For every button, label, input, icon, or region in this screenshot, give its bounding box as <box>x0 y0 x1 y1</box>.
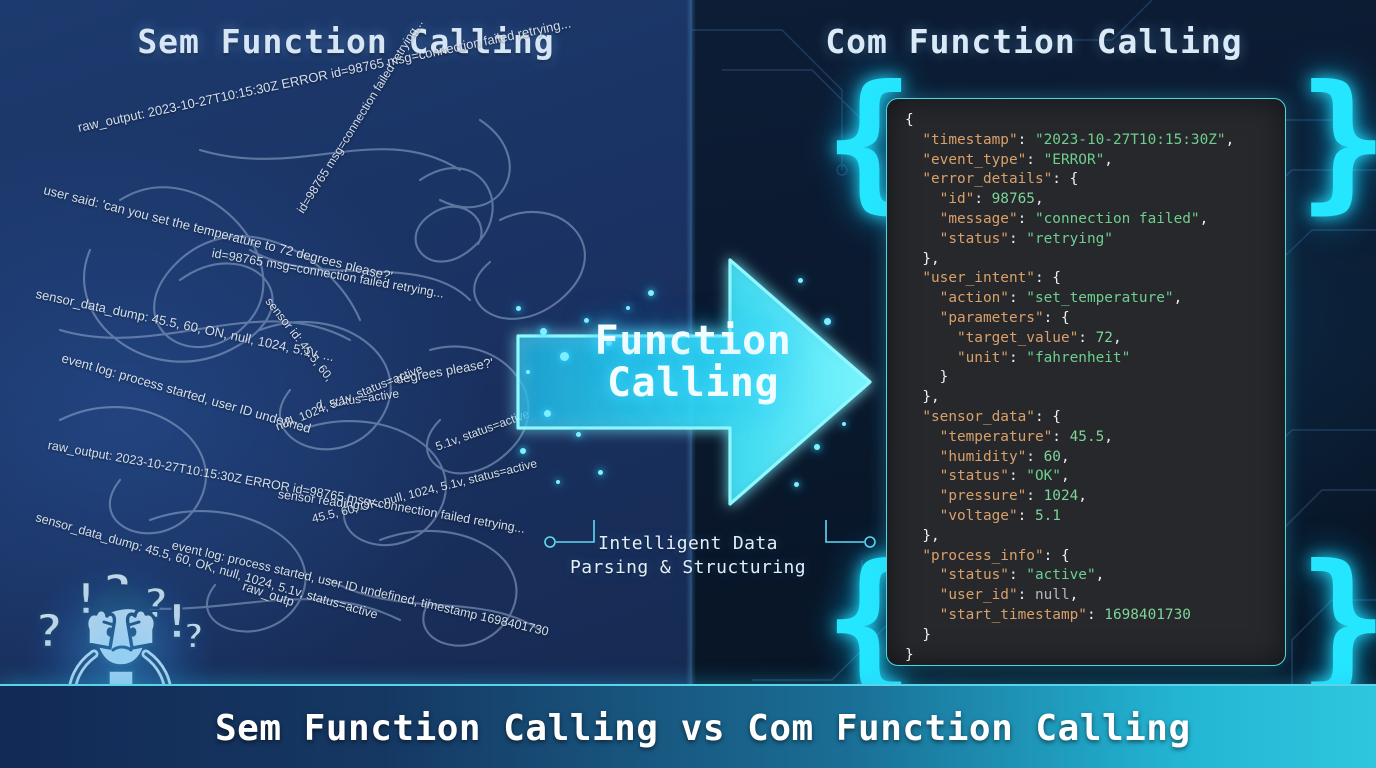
json-token-p <box>905 607 940 623</box>
json-token-p <box>905 488 940 504</box>
json-token-p <box>905 548 922 564</box>
json-token-p <box>905 330 957 346</box>
json-token-p <box>905 429 940 445</box>
json-line: }, <box>905 527 1285 547</box>
json-line: "target_value": 72, <box>905 329 1285 349</box>
json-token-p: } <box>905 627 931 643</box>
json-line: "start_timestamp": 1698401730 <box>905 606 1285 626</box>
json-token-p: : <box>1009 290 1026 306</box>
json-token-p: , <box>1078 488 1087 504</box>
json-token-num: 1024 <box>1044 488 1079 504</box>
function-calling-arrow: Function Calling <box>498 232 888 532</box>
json-token-p: : <box>1018 508 1035 524</box>
json-token-num: 60 <box>1044 449 1061 465</box>
json-token-p <box>905 231 940 247</box>
json-token-num: 5.1 <box>1035 508 1061 524</box>
json-token-p <box>905 310 940 326</box>
json-token-p: }, <box>905 528 940 544</box>
json-token-p: , <box>1104 429 1113 445</box>
json-token-num: 1698401730 <box>1104 607 1191 623</box>
json-token-str: "fahrenheit" <box>1026 350 1130 366</box>
json-token-p: }, <box>905 389 940 405</box>
json-token-p <box>905 152 922 168</box>
json-line: "event_type": "ERROR", <box>905 151 1285 171</box>
json-token-p: : { <box>1044 548 1070 564</box>
json-line: "unit": "fahrenheit" <box>905 349 1285 369</box>
json-line: }, <box>905 388 1285 408</box>
json-line: "timestamp": "2023-10-27T10:15:30Z", <box>905 131 1285 151</box>
json-token-p <box>905 468 940 484</box>
json-token-p <box>905 508 940 524</box>
json-token-p: : <box>1018 132 1035 148</box>
json-token-str: "2023-10-27T10:15:30Z" <box>1035 132 1226 148</box>
json-line: "user_id": null, <box>905 586 1285 606</box>
infographic-canvas: Sem Function Calling Com Function Callin… <box>0 0 1376 768</box>
json-line: "status": "retrying" <box>905 230 1285 250</box>
json-token-p: : <box>1009 567 1026 583</box>
json-token-key: "action" <box>940 290 1009 306</box>
json-token-p: , <box>1104 152 1113 168</box>
json-line: "pressure": 1024, <box>905 487 1285 507</box>
json-token-p: : <box>1009 231 1026 247</box>
json-token-p: : <box>974 191 991 207</box>
json-token-p <box>905 567 940 583</box>
json-token-p <box>905 409 922 425</box>
json-line: "status": "OK", <box>905 467 1285 487</box>
json-token-p <box>905 350 957 366</box>
json-token-key: "sensor_data" <box>922 409 1035 425</box>
json-token-p: , <box>1035 191 1044 207</box>
json-code-block: { "timestamp": "2023-10-27T10:15:30Z", "… <box>905 111 1285 665</box>
json-token-key: "id" <box>940 191 975 207</box>
json-line: "error_details": { <box>905 170 1285 190</box>
caption-line1: Intelligent Data <box>560 532 816 556</box>
json-line: }, <box>905 250 1285 270</box>
json-token-str: "OK" <box>1026 468 1061 484</box>
json-token-p: }, <box>905 251 940 267</box>
json-token-p <box>905 270 922 286</box>
json-token-num: 72 <box>1096 330 1113 346</box>
json-token-p <box>905 191 940 207</box>
json-line: { <box>905 111 1285 131</box>
json-token-p: , <box>1200 211 1209 227</box>
bottom-banner: Sem Function Calling vs Com Function Cal… <box>0 684 1376 768</box>
json-token-p: : { <box>1052 171 1078 187</box>
json-line: "temperature": 45.5, <box>905 428 1285 448</box>
json-token-key: "target_value" <box>957 330 1078 346</box>
arrow-label-line2: Calling <box>558 362 828 404</box>
structured-json-panel[interactable]: { "timestamp": "2023-10-27T10:15:30Z", "… <box>886 98 1286 666</box>
json-token-p <box>905 132 922 148</box>
json-token-p <box>905 449 940 465</box>
json-token-p <box>905 290 940 306</box>
json-token-p: : <box>1018 211 1035 227</box>
json-token-key: "event_type" <box>922 152 1026 168</box>
banner-title: Sem Function Calling vs Com Function Cal… <box>215 686 1191 768</box>
json-token-p: : <box>1026 152 1043 168</box>
json-line: } <box>905 626 1285 646</box>
arrow-label-line1: Function <box>558 320 828 362</box>
json-line: "process_info": { <box>905 547 1285 567</box>
json-token-str: "set_temperature" <box>1026 290 1173 306</box>
caption-text: Intelligent Data Parsing & Structuring <box>560 532 816 580</box>
json-token-p: : <box>1026 488 1043 504</box>
json-token-p: , <box>1174 290 1183 306</box>
json-token-key: "status" <box>940 468 1009 484</box>
json-token-p: , <box>1061 449 1070 465</box>
json-token-p: , <box>1226 132 1235 148</box>
json-token-p: : { <box>1044 310 1070 326</box>
brace-top-right: } <box>1298 66 1376 216</box>
json-token-key: "parameters" <box>940 310 1044 326</box>
json-token-p <box>905 171 922 187</box>
json-token-key: "error_details" <box>922 171 1052 187</box>
json-token-p: : <box>1009 350 1026 366</box>
json-token-null: null <box>1035 587 1070 603</box>
json-token-p: , <box>1096 567 1105 583</box>
json-token-p: : <box>1087 607 1104 623</box>
json-token-key: "status" <box>940 567 1009 583</box>
json-token-num: 45.5 <box>1070 429 1105 445</box>
json-token-p: , <box>1070 587 1079 603</box>
json-token-p: : <box>1018 587 1035 603</box>
json-token-str: "retrying" <box>1026 231 1113 247</box>
json-token-key: "humidity" <box>940 449 1027 465</box>
json-line: "id": 98765, <box>905 190 1285 210</box>
json-line: "voltage": 5.1 <box>905 507 1285 527</box>
json-token-key: "user_id" <box>940 587 1018 603</box>
json-token-num: 98765 <box>992 191 1035 207</box>
right-panel-heading: Com Function Calling <box>692 22 1376 61</box>
json-line: "message": "connection failed", <box>905 210 1285 230</box>
json-line: "user_intent": { <box>905 269 1285 289</box>
json-token-p: : <box>1026 449 1043 465</box>
json-line: } <box>905 368 1285 388</box>
json-line: } <box>905 646 1285 666</box>
json-token-p: : <box>1052 429 1069 445</box>
json-token-key: "voltage" <box>940 508 1018 524</box>
json-token-str: "active" <box>1026 567 1095 583</box>
json-line: "sensor_data": { <box>905 408 1285 428</box>
json-token-p: , <box>1061 468 1070 484</box>
json-line: "action": "set_temperature", <box>905 289 1285 309</box>
json-token-key: "message" <box>940 211 1018 227</box>
json-token-p: , <box>1113 330 1122 346</box>
json-token-key: "pressure" <box>940 488 1027 504</box>
json-token-p <box>905 587 940 603</box>
json-token-key: "start_timestamp" <box>940 607 1087 623</box>
json-line: "humidity": 60, <box>905 448 1285 468</box>
json-token-str: "ERROR" <box>1044 152 1105 168</box>
json-token-key: "timestamp" <box>922 132 1017 148</box>
caption-line2: Parsing & Structuring <box>560 556 816 580</box>
brace-bottom-right: } <box>1298 545 1376 695</box>
json-line: "parameters": { <box>905 309 1285 329</box>
json-token-p: } <box>905 647 914 663</box>
json-token-key: "process_info" <box>922 548 1043 564</box>
json-token-p: { <box>905 112 914 128</box>
json-token-p: : { <box>1035 270 1061 286</box>
json-token-key: "user_intent" <box>922 270 1035 286</box>
json-token-key: "unit" <box>957 350 1009 366</box>
json-token-p: : { <box>1035 409 1061 425</box>
json-token-key: "status" <box>940 231 1009 247</box>
json-token-key: "temperature" <box>940 429 1053 445</box>
json-token-p: } <box>905 369 948 385</box>
json-line: "status": "active", <box>905 566 1285 586</box>
json-token-p: : <box>1009 468 1026 484</box>
json-token-p <box>905 211 940 227</box>
json-token-str: "connection failed" <box>1035 211 1200 227</box>
arrow-label: Function Calling <box>558 320 828 404</box>
json-token-p: : <box>1078 330 1095 346</box>
